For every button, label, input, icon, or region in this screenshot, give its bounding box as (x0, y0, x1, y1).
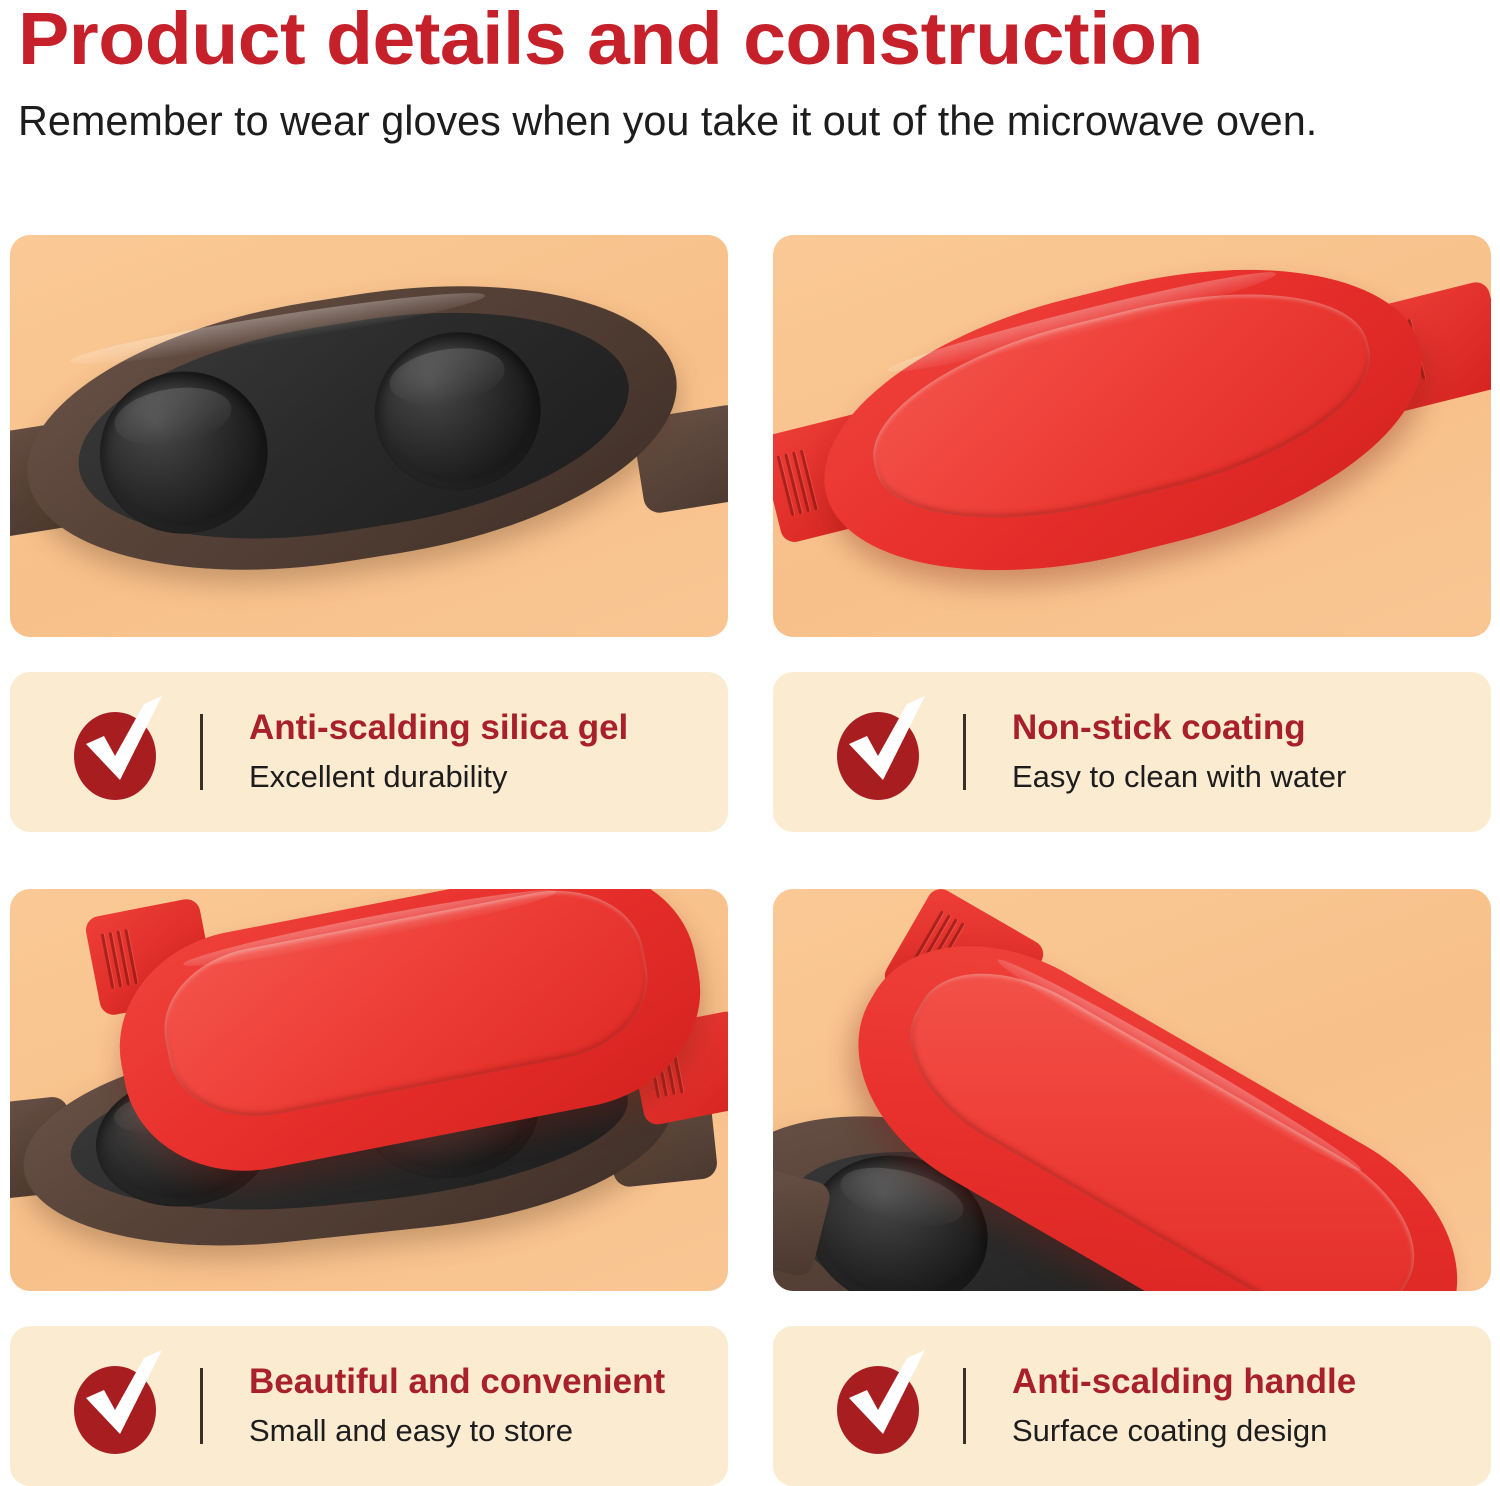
page-subtitle: Remember to wear gloves when you take it… (18, 96, 1460, 146)
caption-title: Anti-scalding handle (1012, 1361, 1356, 1403)
lid-handle-ribs-left (101, 929, 138, 989)
feature-cell-2: Non-stick coating Easy to clean with wat… (773, 235, 1491, 832)
page-title: Product details and construction (18, 0, 1500, 76)
check-badge-icon (833, 1356, 925, 1456)
caption-divider (963, 1368, 966, 1444)
product-illustration-tray (10, 235, 728, 637)
feature-caption-4: Anti-scalding handle Surface coating des… (773, 1326, 1491, 1486)
feature-cell-3: Beautiful and convenient Small and easy … (10, 889, 728, 1486)
feature-row-2: Beautiful and convenient Small and easy … (10, 889, 1492, 1486)
feature-cell-4: Anti-scalding handle Surface coating des… (773, 889, 1491, 1486)
product-illustration-handle (773, 889, 1491, 1291)
caption-divider (200, 714, 203, 790)
feature-cell-1: Anti-scalding silica gel Excellent durab… (10, 235, 728, 832)
feature-caption-2: Non-stick coating Easy to clean with wat… (773, 672, 1491, 832)
caption-text-2: Non-stick coating Easy to clean with wat… (1012, 707, 1346, 797)
feature-row-1: Anti-scalding silica gel Excellent durab… (10, 235, 1492, 832)
lid-top-panel (853, 256, 1390, 555)
caption-text-3: Beautiful and convenient Small and easy … (249, 1361, 665, 1451)
caption-divider (200, 1368, 203, 1444)
tray-well-left (88, 359, 279, 545)
check-badge-icon (70, 1356, 162, 1456)
product-illustration-lid (773, 235, 1491, 637)
caption-subtitle: Easy to clean with water (1012, 757, 1346, 797)
caption-text-4: Anti-scalding handle Surface coating des… (1012, 1361, 1356, 1451)
caption-subtitle: Surface coating design (1012, 1411, 1356, 1451)
tray-rim (10, 247, 696, 608)
caption-text-1: Anti-scalding silica gel Excellent durab… (249, 707, 628, 797)
check-badge-icon (833, 702, 925, 802)
lid-handle-ribs-left (777, 450, 818, 517)
feature-caption-1: Anti-scalding silica gel Excellent durab… (10, 672, 728, 832)
caption-divider (963, 714, 966, 790)
product-illustration-set (10, 889, 728, 1291)
lid-top-panel (151, 889, 660, 1132)
row-spacer (10, 832, 1492, 889)
caption-title: Non-stick coating (1012, 707, 1346, 749)
tray-basin (63, 280, 644, 570)
feature-grid: Anti-scalding silica gel Excellent durab… (10, 235, 1492, 1486)
page-header: Product details and construction Remembe… (0, 0, 1500, 146)
caption-title: Anti-scalding silica gel (249, 707, 628, 749)
caption-subtitle: Excellent durability (249, 757, 628, 797)
check-badge-icon (70, 702, 162, 802)
caption-title: Beautiful and convenient (249, 1361, 665, 1403)
product-photo-tray-open[interactable] (10, 235, 728, 637)
lid-skirt (794, 235, 1451, 621)
tray-well-right (363, 320, 552, 502)
caption-subtitle: Small and easy to store (249, 1411, 665, 1451)
product-photo-red-lid[interactable] (773, 235, 1491, 637)
product-photo-handle-closeup[interactable] (773, 889, 1491, 1291)
feature-caption-3: Beautiful and convenient Small and easy … (10, 1326, 728, 1486)
product-photo-lid-over-tray[interactable] (10, 889, 728, 1291)
